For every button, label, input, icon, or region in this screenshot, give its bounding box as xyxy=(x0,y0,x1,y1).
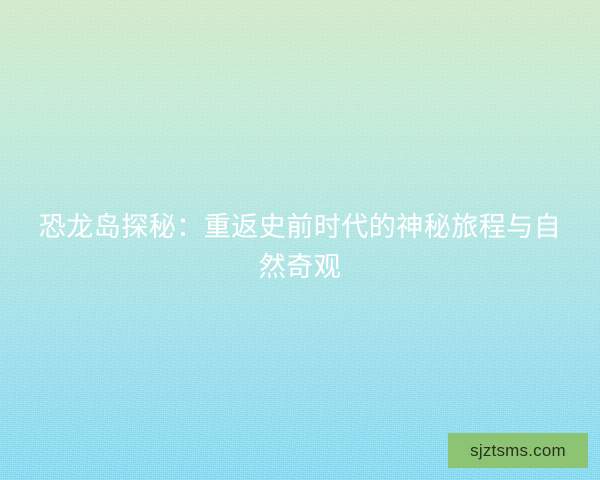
watermark-text: sjztsms.com xyxy=(470,442,566,459)
banner-image: 恐龙岛探秘：重返史前时代的神秘旅程与自然奇观 sjztsms.com xyxy=(0,0,600,480)
watermark-badge: sjztsms.com xyxy=(448,433,588,468)
headline-title: 恐龙岛探秘：重返史前时代的神秘旅程与自然奇观 xyxy=(0,207,600,287)
